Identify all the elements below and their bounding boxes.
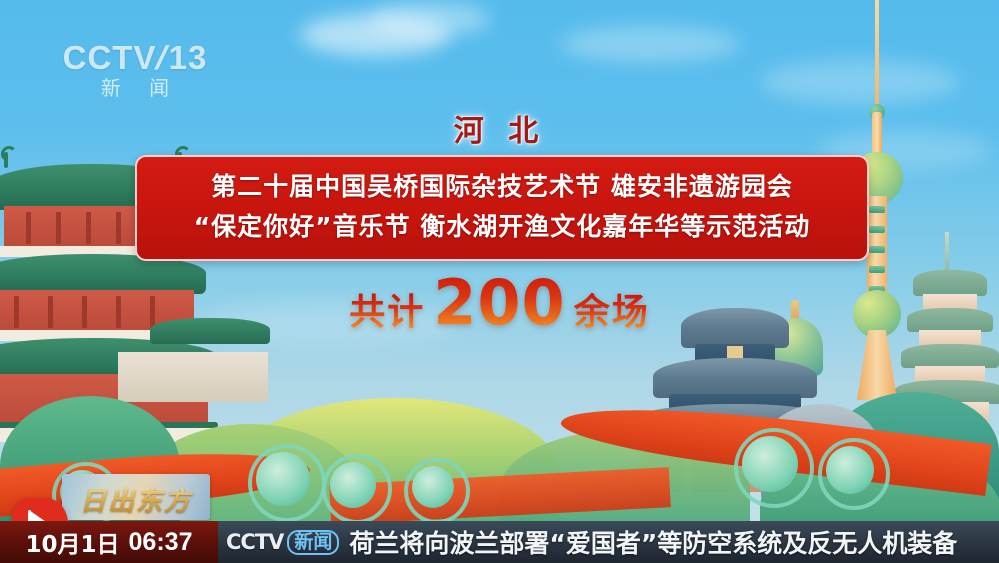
pavilion-column: [116, 212, 121, 244]
tower-legs: [857, 330, 897, 400]
pavilion-column: [26, 212, 31, 244]
roof-ornament: [4, 152, 8, 168]
ticker-time: 06:37: [129, 528, 193, 557]
broadcast-screen: CCTV/13 新 闻 河 北 第二十届中国吴桥国际杂技艺术节 雄安非遗游园会 …: [0, 0, 999, 563]
tower-rung: [869, 206, 885, 213]
wave-ring: [818, 438, 890, 510]
ticker-body: CCTV 新闻 荷兰将向波兰部署“爱国者”等防空系统及反无人机装备: [218, 521, 999, 563]
wave-ring: [322, 454, 392, 524]
ticker-datetime: 10月1日 06:37: [0, 521, 218, 563]
news-ticker: 10月1日 06:37 CCTV 新闻 荷兰将向波兰部署“爱国者”等防空系统及反…: [0, 521, 999, 563]
headline-line-1: 第二十届中国吴桥国际杂技艺术节 雄安非遗游园会: [137, 167, 867, 207]
wave-ring: [734, 428, 814, 508]
pagoda-roof: [901, 344, 999, 368]
pavilion-column: [56, 212, 61, 244]
channel-number-text: 13: [169, 39, 208, 76]
total-number: 200: [425, 266, 573, 339]
program-logo-title: 日出东方: [62, 481, 210, 518]
ticker-logo: CCTV 新闻: [226, 530, 339, 555]
tower-rung: [869, 246, 885, 253]
wave-ring: [404, 458, 470, 524]
total-events-line: 共计200余场: [0, 266, 999, 339]
side-wall: [118, 352, 268, 402]
program-logo: 日出东方: [62, 474, 210, 520]
ticker-date: 10月1日: [26, 525, 120, 559]
channel-name-text: CCTV: [63, 39, 157, 76]
channel-bug-name: CCTV/13: [60, 40, 210, 76]
cloud: [560, 26, 740, 62]
temple-roof-mid: [653, 358, 817, 398]
ticker-logo-news: 新闻: [287, 530, 339, 555]
ticker-headline-text: 荷兰将向波兰部署“爱国者”等防空系统及反无人机装备: [349, 524, 957, 560]
channel-bug: CCTV/13 新 闻: [60, 40, 210, 106]
tower-rung: [869, 226, 885, 233]
channel-bug-subtitle: 新 闻: [60, 76, 210, 100]
pavilion-column: [86, 212, 91, 244]
cloud: [370, 2, 490, 36]
headline-banner: 第二十届中国吴桥国际杂技艺术节 雄安非遗游园会 “保定你好”音乐节 衡水湖开渔文…: [135, 155, 869, 261]
province-label: 河 北: [0, 106, 999, 150]
wave-ring: [248, 444, 326, 522]
total-suffix: 余场: [574, 292, 650, 333]
tower-spire: [875, 0, 879, 120]
total-prefix: 共计: [349, 292, 425, 333]
headline-line-2: “保定你好”音乐节 衡水湖开渔文化嘉年华等示范活动: [137, 207, 867, 247]
ticker-logo-cctv: CCTV: [226, 530, 283, 554]
